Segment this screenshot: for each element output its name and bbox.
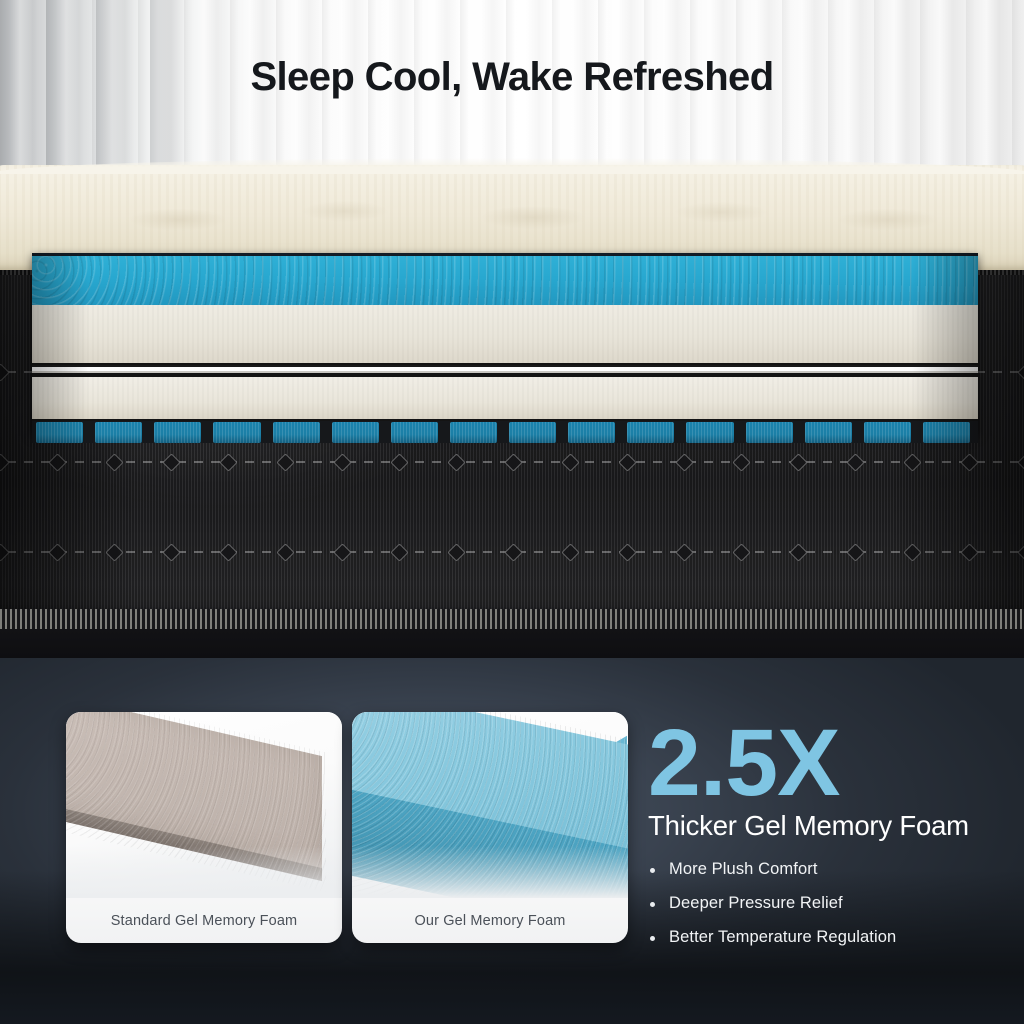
promo-subtitle: Thicker Gel Memory Foam	[648, 810, 1020, 842]
pocket-coil	[509, 422, 556, 443]
pocket-coil	[568, 422, 615, 443]
pocket-coil	[923, 422, 970, 443]
pocket-coil	[36, 422, 83, 443]
bottom-skirt	[0, 629, 1024, 660]
layer-pocketed-coils	[32, 421, 978, 443]
pocket-coil	[95, 422, 142, 443]
benefit-item: Deeper Pressure Relief	[648, 894, 1020, 913]
card-standard-label: Standard Gel Memory Foam	[66, 898, 342, 943]
pocket-coil	[627, 422, 674, 443]
layer-divider-strip	[32, 365, 978, 377]
pocket-coil	[273, 422, 320, 443]
card-our-image	[352, 712, 628, 898]
layer-comfort-foam	[32, 305, 978, 365]
pocket-coil	[450, 422, 497, 443]
benefit-list: More Plush ComfortDeeper Pressure Relief…	[648, 860, 1020, 947]
bullet-dot-icon	[650, 902, 655, 907]
card-our-label: Our Gel Memory Foam	[352, 898, 628, 943]
page-headline: Sleep Cool, Wake Refreshed	[0, 55, 1024, 100]
bottom-weave-trim	[0, 609, 1024, 631]
benefit-item: Better Temperature Regulation	[648, 928, 1020, 947]
bullet-dot-icon	[650, 868, 655, 873]
layer-transition-foam	[32, 377, 978, 421]
benefit-label: Deeper Pressure Relief	[669, 894, 843, 912]
pocket-coil	[805, 422, 852, 443]
pocket-coil	[391, 422, 438, 443]
card-our-foam[interactable]: Our Gel Memory Foam	[352, 712, 628, 943]
foam-comparison-cards: Standard Gel Memory Foam Our Gel Memory …	[66, 712, 628, 943]
multiplier-headline: 2.5X	[648, 718, 1020, 808]
card-standard-foam[interactable]: Standard Gel Memory Foam	[66, 712, 342, 943]
card-floor-gradient	[352, 846, 628, 898]
comparison-panel: Standard Gel Memory Foam Our Gel Memory …	[0, 658, 1024, 1024]
pocket-coil	[864, 422, 911, 443]
pocket-coil	[746, 422, 793, 443]
card-standard-image	[66, 712, 342, 898]
promo-page: Sleep Cool, Wake Refreshed Standard Gel …	[0, 0, 1024, 1024]
pocket-coil	[213, 422, 260, 443]
layer-gel-memory-foam	[32, 253, 978, 308]
benefit-label: Better Temperature Regulation	[669, 928, 896, 946]
pocket-coil	[154, 422, 201, 443]
bullet-dot-icon	[650, 936, 655, 941]
pocket-coil	[686, 422, 733, 443]
benefit-label: More Plush Comfort	[669, 860, 818, 878]
cutaway-layer-stack	[32, 253, 978, 433]
pocket-coil	[332, 422, 379, 443]
card-floor-gradient	[66, 846, 342, 898]
hero-mattress-photo: Sleep Cool, Wake Refreshed	[0, 0, 1024, 660]
mattress	[0, 165, 1024, 660]
promo-copy: 2.5X Thicker Gel Memory Foam More Plush …	[648, 718, 1020, 962]
benefit-item: More Plush Comfort	[648, 860, 1020, 879]
